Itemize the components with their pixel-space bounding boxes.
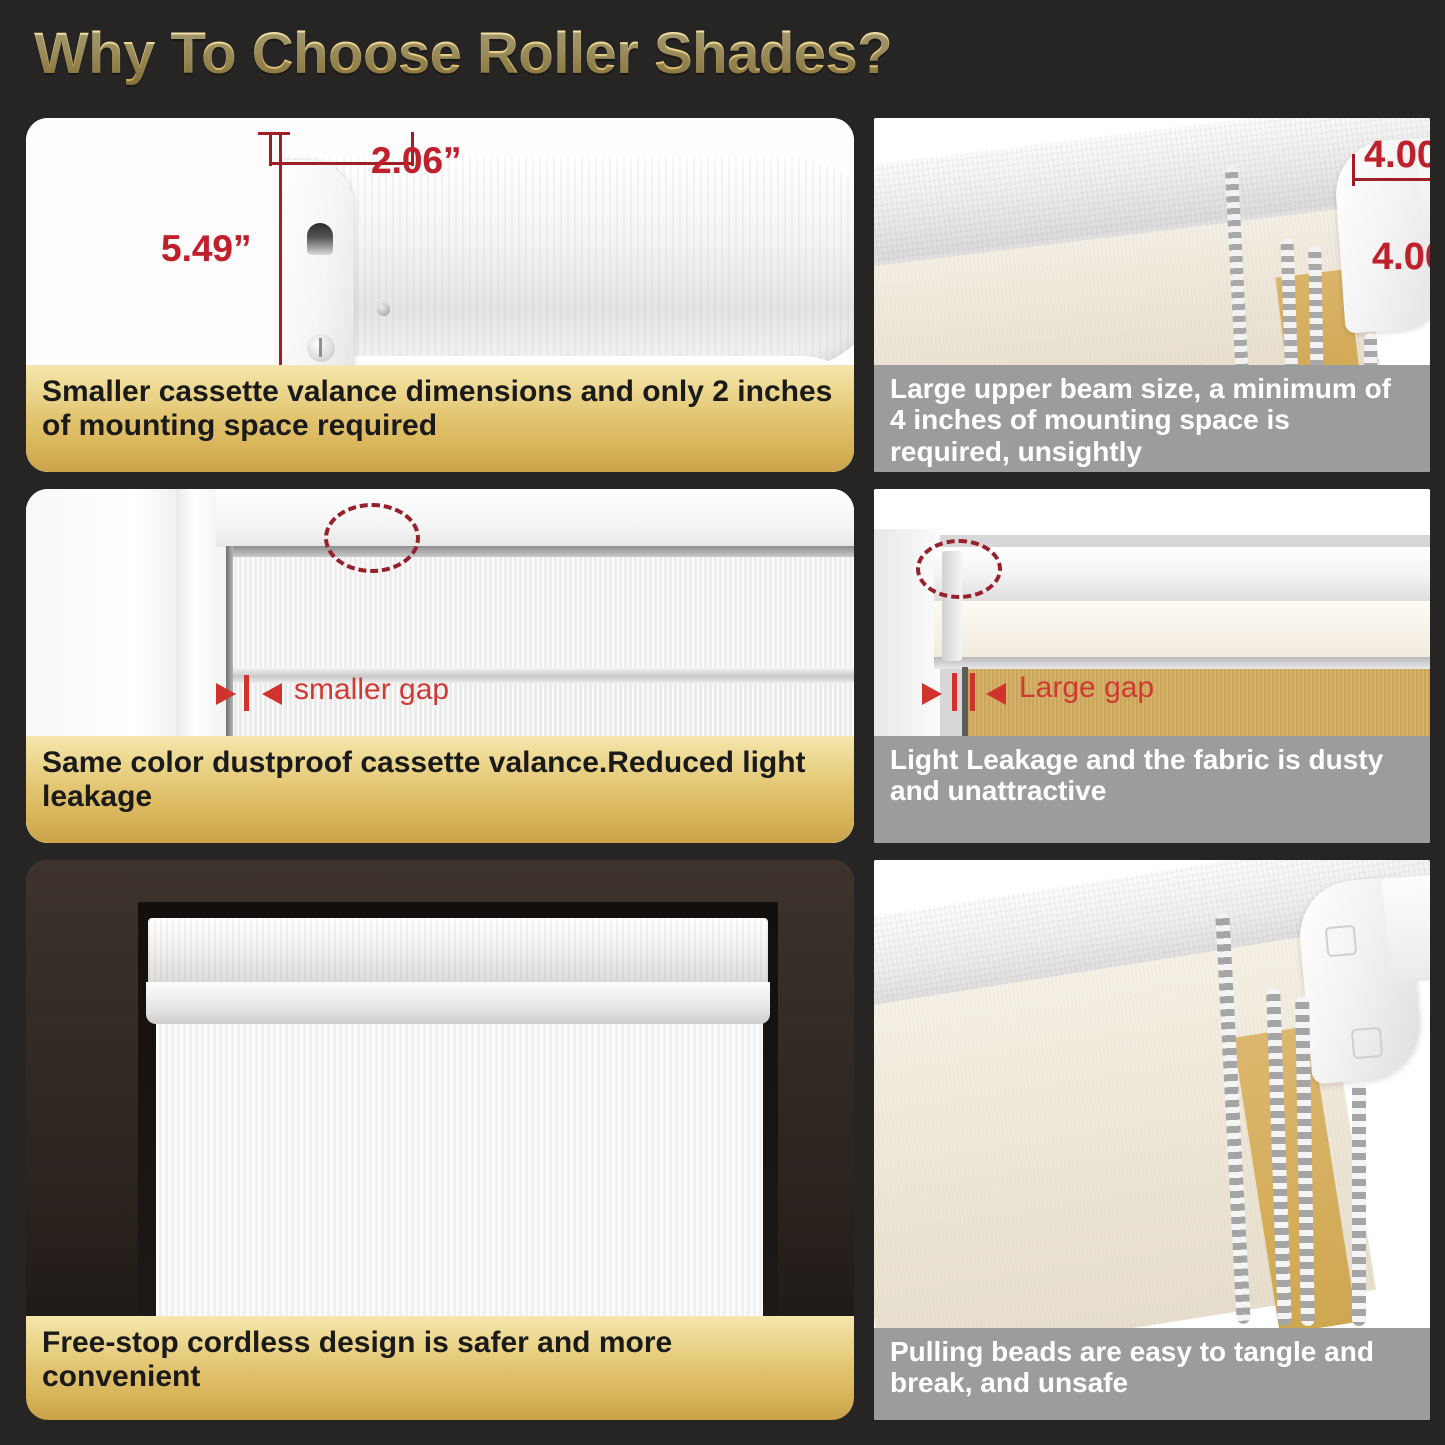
shade-fabric-upper [232, 557, 854, 667]
comparison-grid: 2.06” 5.49” Smaller cassette valance dim… [0, 0, 1445, 1445]
panel-1-caption: Smaller cassette valance dimensions and … [26, 365, 854, 472]
beam-rail [934, 657, 1430, 669]
bracket-arrow-icon [1325, 925, 1358, 958]
width-dimension-tick-left [269, 132, 272, 166]
panel-4-caption: Light Leakage and the fabric is dusty an… [874, 736, 1430, 843]
height-dimension-tick-top [258, 132, 290, 135]
panel-2-caption: Large upper beam size, a minimum of 4 in… [874, 365, 1430, 472]
panel-3-caption: Same color dustproof cassette valance.Re… [26, 736, 854, 843]
gap-arrow-right [986, 683, 1006, 705]
gap-arrow-right [262, 683, 282, 705]
gap-arrow-left [216, 683, 236, 705]
bracket-arrow-icon [1351, 1027, 1384, 1060]
gap-label: smaller gap [294, 673, 449, 707]
gap-arrow-left [922, 683, 942, 705]
panel-con-beads: Pulling beads are easy to tangle and bre… [874, 860, 1430, 1420]
bracket-screw-icon [307, 334, 335, 362]
beam-lower-face [934, 601, 1430, 659]
panel-con-light-leakage: Large gap Light Leakage and the fabric i… [874, 489, 1430, 843]
panel-pro-cassette-size: 2.06” 5.49” Smaller cassette valance dim… [26, 118, 854, 472]
upper-beam [934, 547, 1430, 609]
window-header-trim [216, 489, 854, 547]
shade-fabric [156, 1020, 763, 1348]
gap-label: Large gap [1019, 671, 1154, 705]
ceiling-surface [874, 489, 1430, 535]
highlight-ellipse-marker [324, 503, 420, 573]
panel-5-caption: Free-stop cordless design is safer and m… [26, 1316, 854, 1420]
height-dimension-label: 4.00” [1372, 236, 1430, 279]
panel-pro-cordless: Free-stop cordless design is safer and m… [26, 860, 854, 1420]
highlight-ellipse-marker [916, 539, 1002, 599]
cassette-valance [148, 918, 768, 986]
bracket-slot-icon [307, 223, 333, 255]
gap-indicator-bar [244, 675, 249, 711]
panel-con-beam-size: 4.00” 4.00” Large upper beam size, a min… [874, 118, 1430, 472]
cassette-valance-body [294, 156, 854, 371]
cassette-valance-lip [146, 982, 770, 1024]
width-dimension-label: 4.00” [1364, 134, 1430, 177]
bracket-pin-icon [377, 303, 390, 316]
gap-indicator-bar [952, 673, 957, 711]
gap-indicator-bar [970, 673, 975, 711]
width-dimension-line [1352, 178, 1430, 181]
panel-6-caption: Pulling beads are easy to tangle and bre… [874, 1328, 1430, 1420]
width-dimension-tick-left [1352, 154, 1355, 186]
height-dimension-label: 5.49” [161, 228, 252, 270]
beam-mounting-plate [1382, 869, 1430, 984]
panel-pro-light-leakage: smaller gap Same color dustproof cassett… [26, 489, 854, 843]
width-dimension-label: 2.06” [371, 140, 462, 182]
bead-chain [1352, 1082, 1366, 1326]
